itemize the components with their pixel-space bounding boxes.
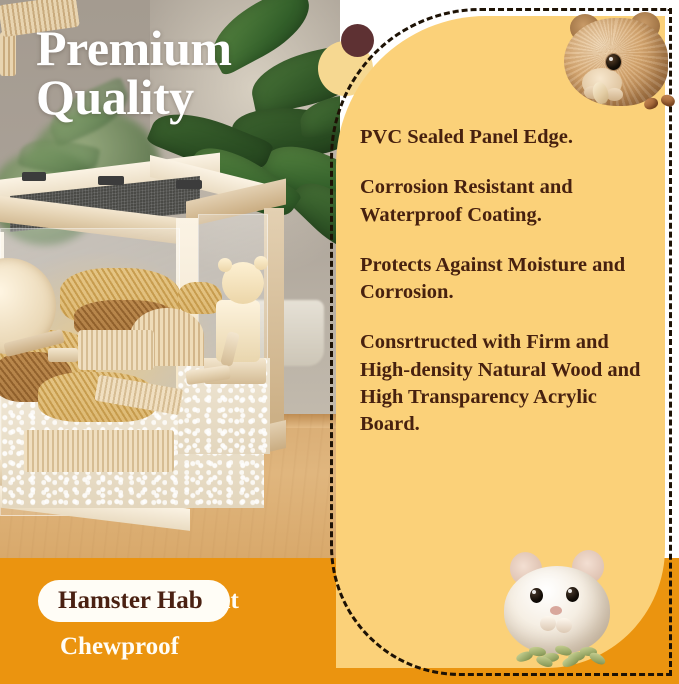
product-name-prefix: Hamster [58,587,157,614]
decorative-circle-dark [341,24,374,57]
tagline-label: Chewproof [60,630,179,664]
product-infographic: Premium Quality PVC Sealed Panel Edge. C… [0,0,679,684]
pumpkin-seeds [516,644,608,666]
footer-labels: Hamster Habitat Chewproof [0,558,340,684]
page-title: Premium Quality [36,24,336,121]
title-line-2: Quality [36,73,336,122]
hamster-photo-top-right [556,6,674,114]
product-name-label: Hamster Habitat [58,584,239,618]
product-name-outside: itat [203,587,239,614]
title-line-1: Premium [36,24,336,73]
hamster-photo-bottom-right [494,540,622,668]
product-name-inside: Hab [157,587,203,614]
